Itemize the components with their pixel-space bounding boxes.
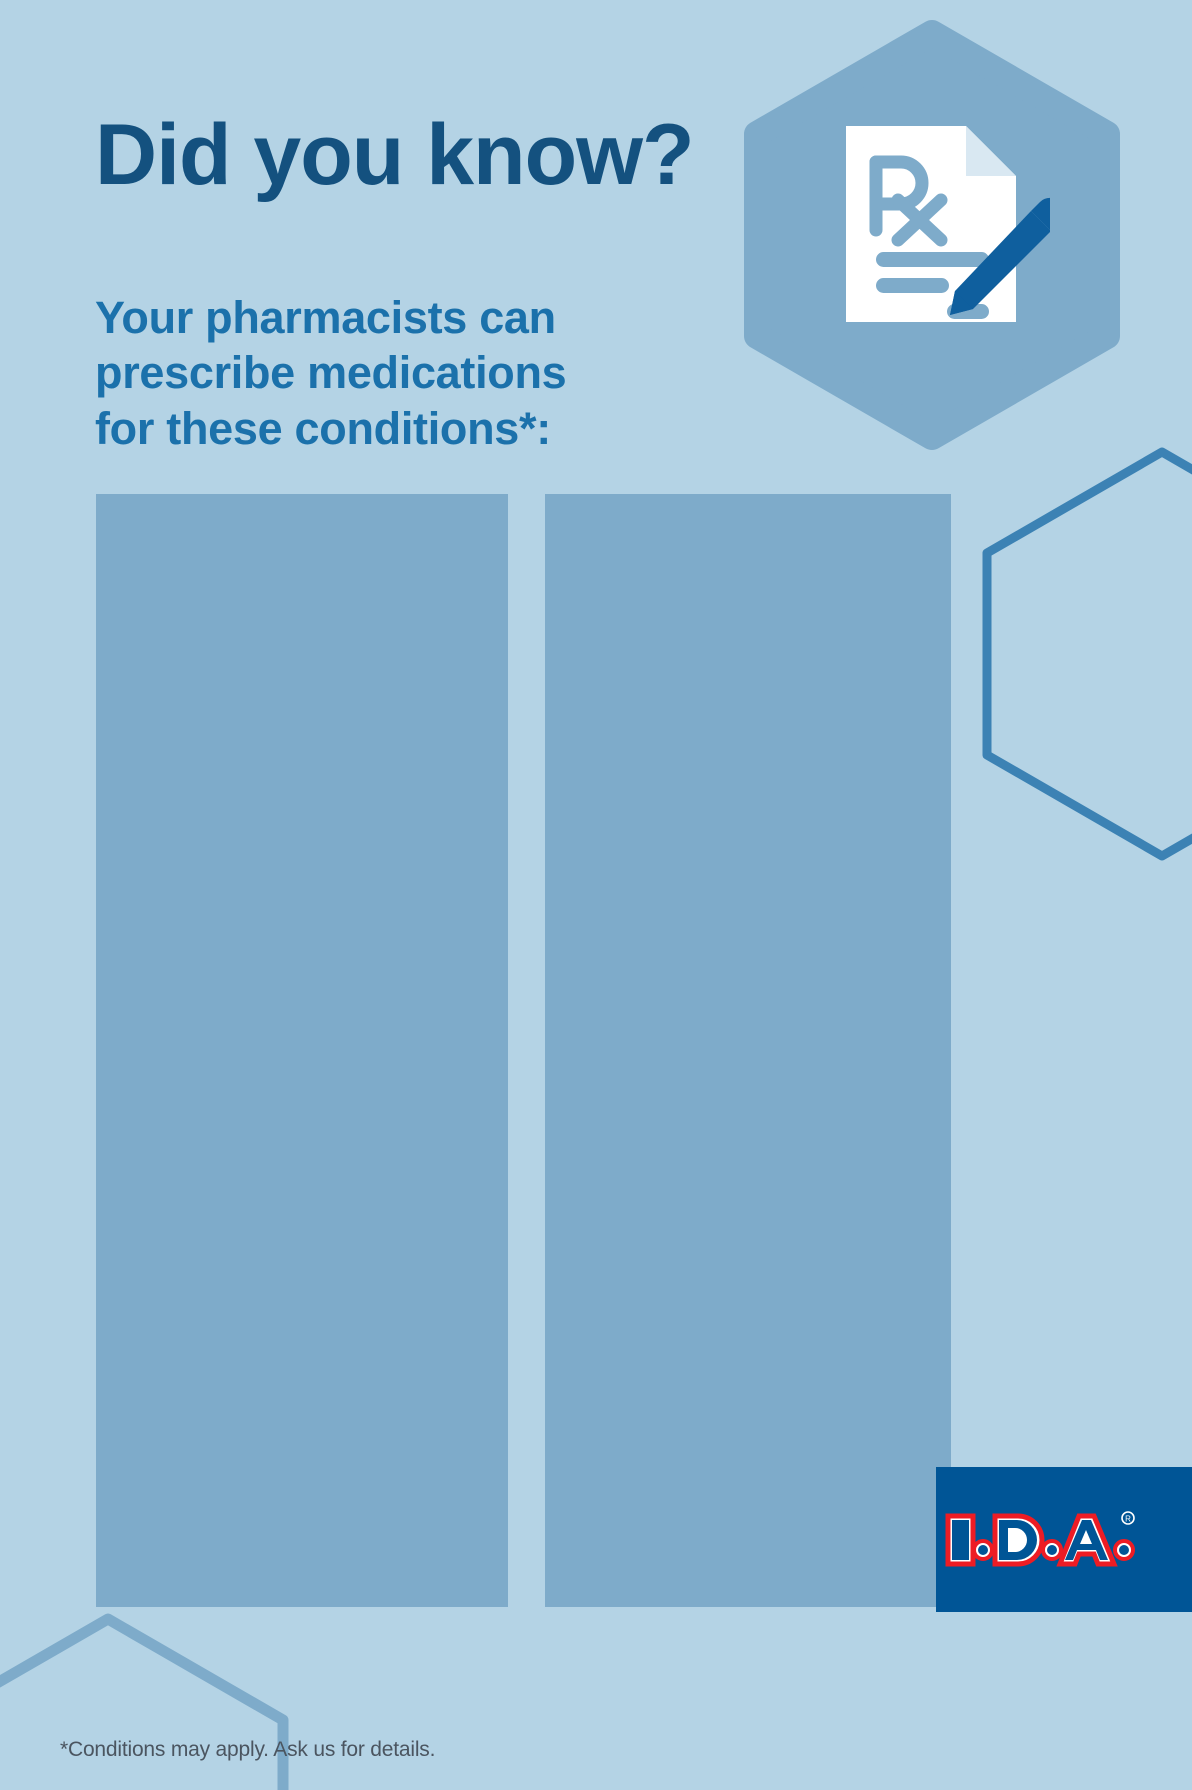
subheading: Your pharmacists can prescribe medicatio…	[95, 290, 566, 456]
poster-canvas: Did you know? Your pharmacists can presc…	[0, 0, 1192, 1790]
registered-trademark-icon: R	[1122, 1512, 1134, 1524]
footnote-disclaimer: *Conditions may apply. Ask us for detail…	[60, 1738, 435, 1762]
hexagon-outline-bottom	[0, 1619, 283, 1790]
page-title: Did you know?	[95, 112, 694, 198]
ida-logo: R	[942, 1504, 1142, 1576]
ida-logo-block: R	[936, 1467, 1192, 1612]
subheading-line-1: Your pharmacists can	[95, 290, 566, 345]
document-fold	[966, 126, 1016, 176]
document-line-2	[876, 278, 949, 293]
content-panel-right	[545, 494, 951, 1607]
content-panel-left	[96, 494, 508, 1607]
subheading-line-3: for these conditions*:	[95, 401, 566, 456]
hexagon-outline-right	[987, 452, 1192, 856]
document-line-1	[876, 252, 989, 267]
svg-text:R: R	[1125, 1514, 1131, 1523]
prescription-document-icon	[838, 118, 1050, 330]
subheading-line-2: prescribe medications	[95, 345, 566, 400]
ida-wordmark	[948, 1516, 1133, 1564]
